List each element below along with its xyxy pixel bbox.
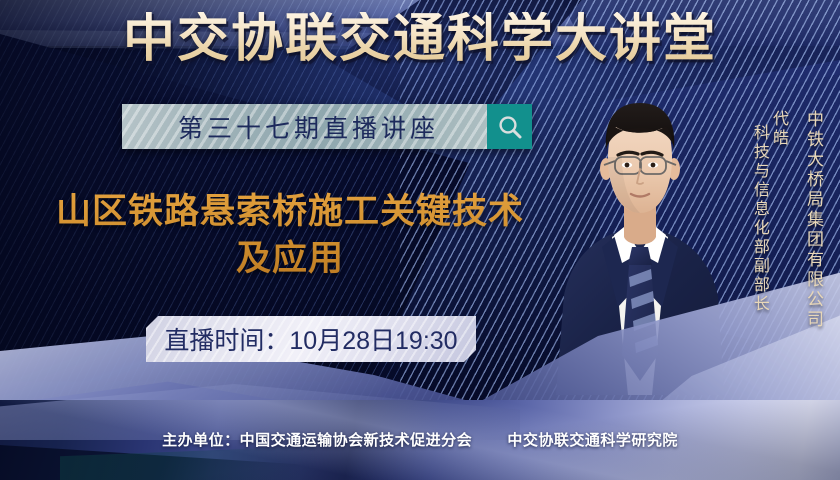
session-bar-label: 第三十七期直播讲座 <box>170 109 439 145</box>
search-icon[interactable] <box>487 104 532 149</box>
lecture-title: 山区铁路悬索桥施工关键技术 及应用 <box>20 188 560 283</box>
speaker-role: 科技与信息化部副部长 <box>750 110 769 314</box>
lecture-title-line2: 及应用 <box>20 235 560 282</box>
broadcast-time-banner: 直播时间：10月28日19:30 <box>146 316 476 362</box>
page-title: 中交协联交通科学大讲堂 <box>0 12 840 67</box>
speaker-info: 代皓 科技与信息化部副部长 <box>750 110 788 314</box>
speaker-organization: 中铁大桥局集团有限公司 <box>801 110 826 330</box>
speaker-name: 代皓 <box>769 110 788 314</box>
lecture-title-line1: 山区铁路悬索桥施工关键技术 <box>56 192 524 231</box>
footer-institute: 中交协联交通科学研究院 <box>507 432 678 449</box>
speaker-photo <box>556 95 724 395</box>
session-bar-body: 第三十七期直播讲座 <box>122 104 487 149</box>
footer-text: 主办单位：中国交通运输协会新技术促进分会 中交协联交通科学研究院 <box>0 429 840 450</box>
session-bar: 第三十七期直播讲座 <box>122 104 532 149</box>
webinar-poster: 中交协联交通科学大讲堂 中交协联交通科学大讲堂 第三十七期直播讲座 山区铁路悬索… <box>0 0 840 480</box>
broadcast-time-text: 直播时间：10月28日19:30 <box>164 321 457 357</box>
footer-organizer: 主办单位：中国交通运输协会新技术促进分会 <box>162 432 472 449</box>
